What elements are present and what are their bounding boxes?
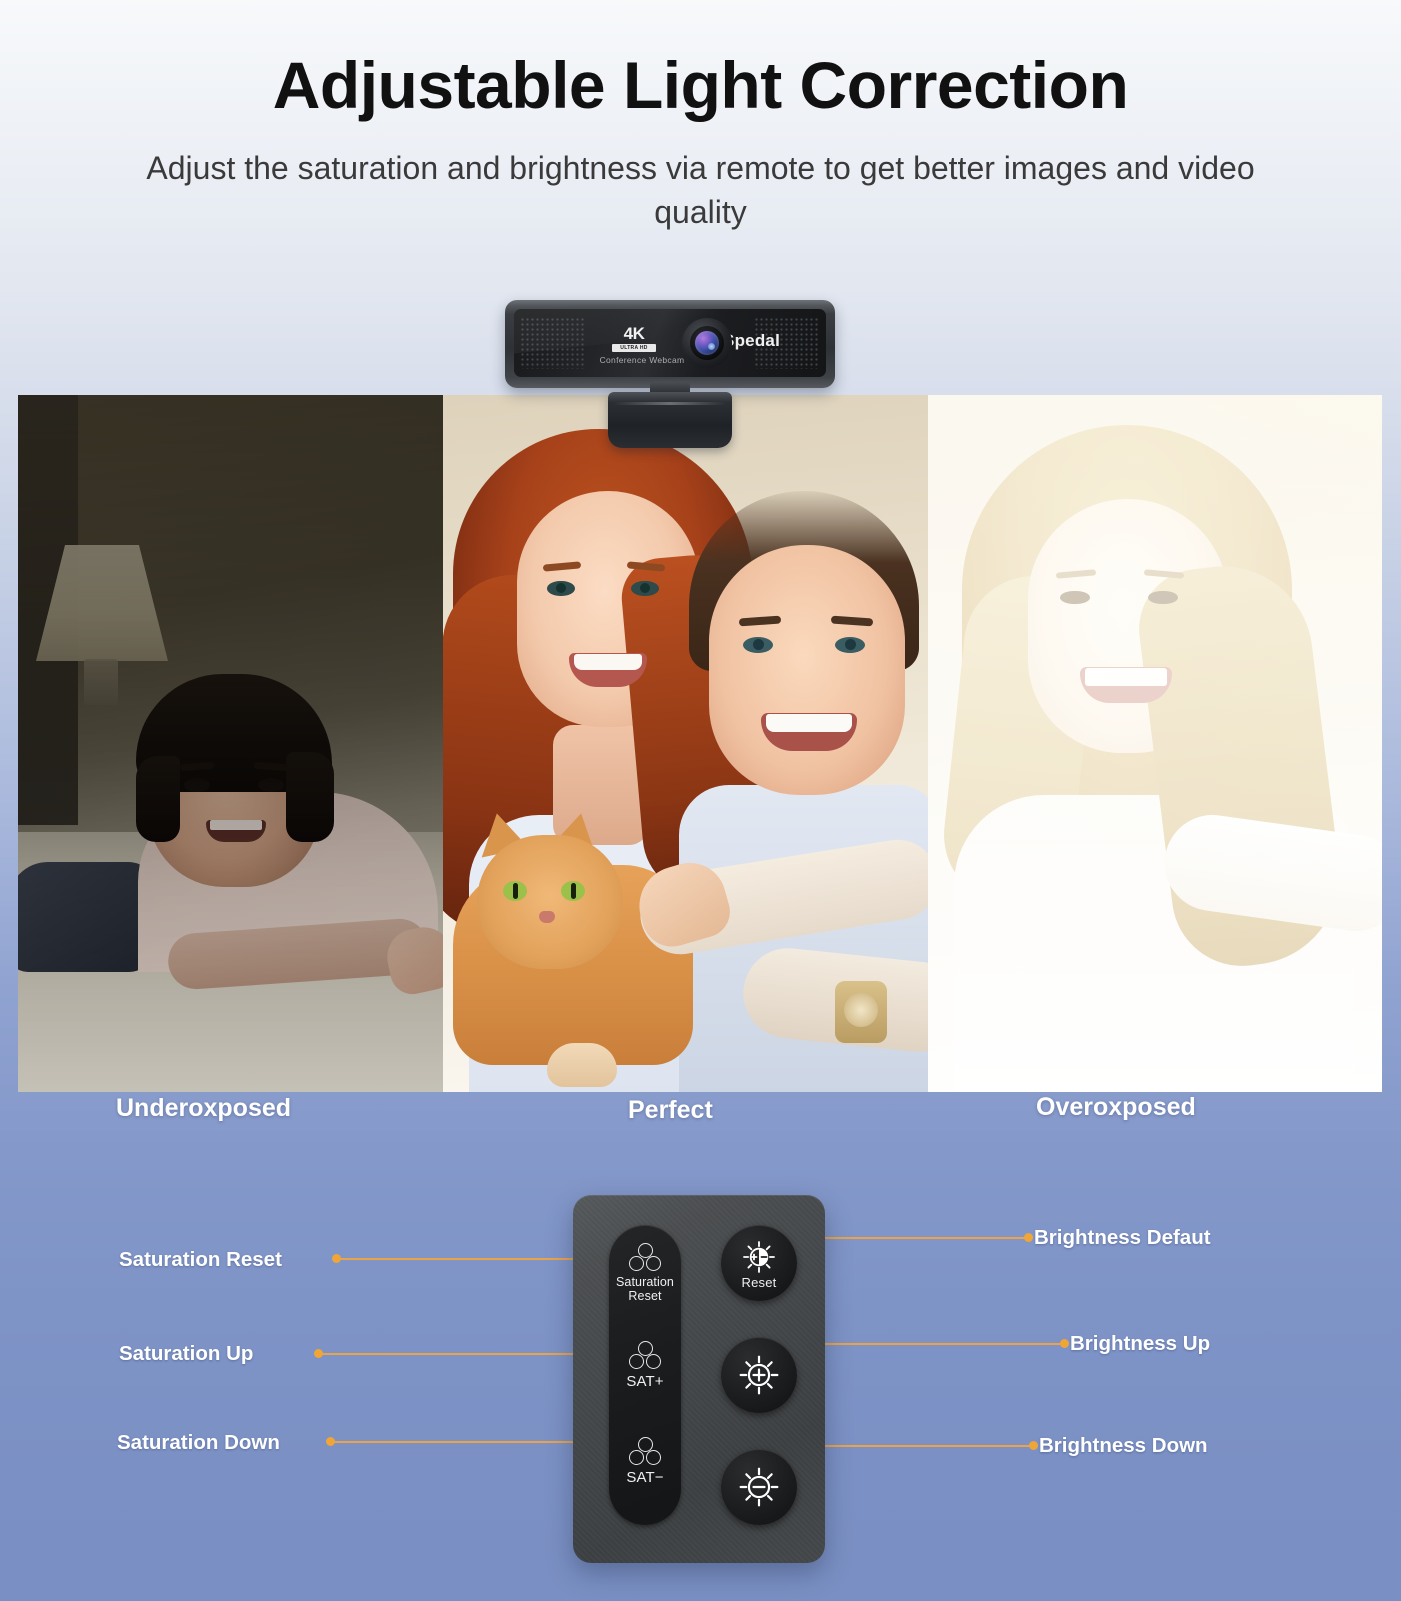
callout-saturation-up: Saturation Up — [119, 1342, 253, 1366]
resolution-badge-sub: ULTRA HD — [612, 344, 656, 352]
webcam-body: 4K ULTRA HD Conference Webcam Spedal — [505, 300, 835, 388]
leader-dot-saturation-reset — [332, 1254, 341, 1263]
photo-panel-perfect — [443, 395, 928, 1092]
cat-eye-right — [561, 881, 585, 901]
webcam-device: 4K ULTRA HD Conference Webcam Spedal — [505, 300, 835, 450]
resolution-badge: 4K ULTRA HD — [612, 325, 656, 352]
page-header: Adjustable Light Correction Adjust the s… — [0, 0, 1401, 234]
saturation-reset-label-line2: Reset — [609, 1290, 681, 1304]
callout-brightness-up: Brightness Up — [1070, 1332, 1210, 1356]
woman-eye-right — [631, 581, 659, 596]
brightness-up-button[interactable] — [721, 1337, 797, 1413]
leader-line-saturation-down — [330, 1441, 590, 1443]
lens-barrel — [690, 326, 724, 360]
camera-lens-icon — [682, 318, 732, 368]
webcam-mount-clip — [608, 392, 732, 448]
callout-brightness-default: Brightness Defaut — [1034, 1226, 1211, 1250]
photo-panel-overexposed — [928, 395, 1382, 1092]
man-eye-left — [743, 637, 773, 653]
brightness-reset-label: Reset — [721, 1275, 797, 1290]
saturation-down-button[interactable]: SAT− — [609, 1437, 681, 1487]
leader-line-brightness-down — [792, 1445, 1037, 1447]
saturation-up-label: SAT+ — [609, 1374, 681, 1391]
sun-minus-icon — [737, 1465, 781, 1509]
leader-dot-brightness-up — [1060, 1339, 1069, 1348]
leader-dot-brightness-default — [1024, 1233, 1033, 1242]
lens-glass — [695, 331, 719, 355]
man-face — [709, 545, 905, 795]
leader-line-brightness-up — [800, 1343, 1068, 1345]
caption-underexposed: Underoxposed — [116, 1094, 291, 1123]
three-circles-icon — [628, 1341, 662, 1371]
callout-brightness-down: Brightness Down — [1039, 1434, 1208, 1458]
resolution-badge-value: 4K — [612, 325, 656, 342]
callout-saturation-down: Saturation Down — [117, 1431, 280, 1455]
man-eye-right — [835, 637, 865, 653]
overexposure-highlight — [928, 395, 1382, 1092]
sun-plus-icon — [737, 1353, 781, 1397]
saturation-down-label: SAT− — [609, 1470, 681, 1487]
page-title: Adjustable Light Correction — [0, 52, 1401, 118]
speaker-mesh-left-icon — [520, 317, 586, 369]
caption-perfect: Perfect — [628, 1096, 713, 1125]
underexposure-overlay — [18, 395, 443, 1092]
brightness-down-button[interactable] — [721, 1449, 797, 1525]
saturation-button-group: Saturation Reset SAT+ SAT− — [609, 1225, 681, 1525]
caption-overexposed: Overoxposed — [1036, 1093, 1196, 1122]
saturation-up-button[interactable]: SAT+ — [609, 1341, 681, 1391]
three-circles-icon — [628, 1243, 662, 1273]
exposure-comparison-strip — [18, 395, 1382, 1092]
man-mouth — [761, 713, 857, 751]
webcam-front-face: 4K ULTRA HD Conference Webcam Spedal — [514, 309, 826, 377]
photo-panel-underexposed — [18, 395, 443, 1092]
webcam-type-label: Conference Webcam — [592, 355, 692, 365]
saturation-reset-label-line1: Saturation — [609, 1276, 681, 1290]
cat-eye-left — [503, 881, 527, 901]
leader-dot-brightness-down — [1029, 1441, 1038, 1450]
cat-paw — [547, 1043, 617, 1087]
brightness-reset-button[interactable]: Reset — [721, 1225, 797, 1301]
callout-saturation-reset: Saturation Reset — [119, 1248, 282, 1272]
three-circles-icon — [628, 1437, 662, 1467]
leader-dot-saturation-up — [314, 1349, 323, 1358]
sun-split-plus-minus-icon — [739, 1237, 779, 1277]
leader-line-saturation-reset — [336, 1258, 590, 1260]
page-subtitle: Adjust the saturation and brightness via… — [111, 146, 1291, 234]
remote-control: Saturation Reset SAT+ SAT− — [573, 1195, 825, 1563]
leader-line-saturation-up — [318, 1353, 590, 1355]
leader-dot-saturation-down — [326, 1437, 335, 1446]
cat-head — [477, 835, 623, 969]
cat-nose — [539, 911, 555, 923]
saturation-reset-button[interactable]: Saturation Reset — [609, 1243, 681, 1304]
woman-eye-left — [547, 581, 575, 596]
wrist-watch — [835, 981, 887, 1043]
